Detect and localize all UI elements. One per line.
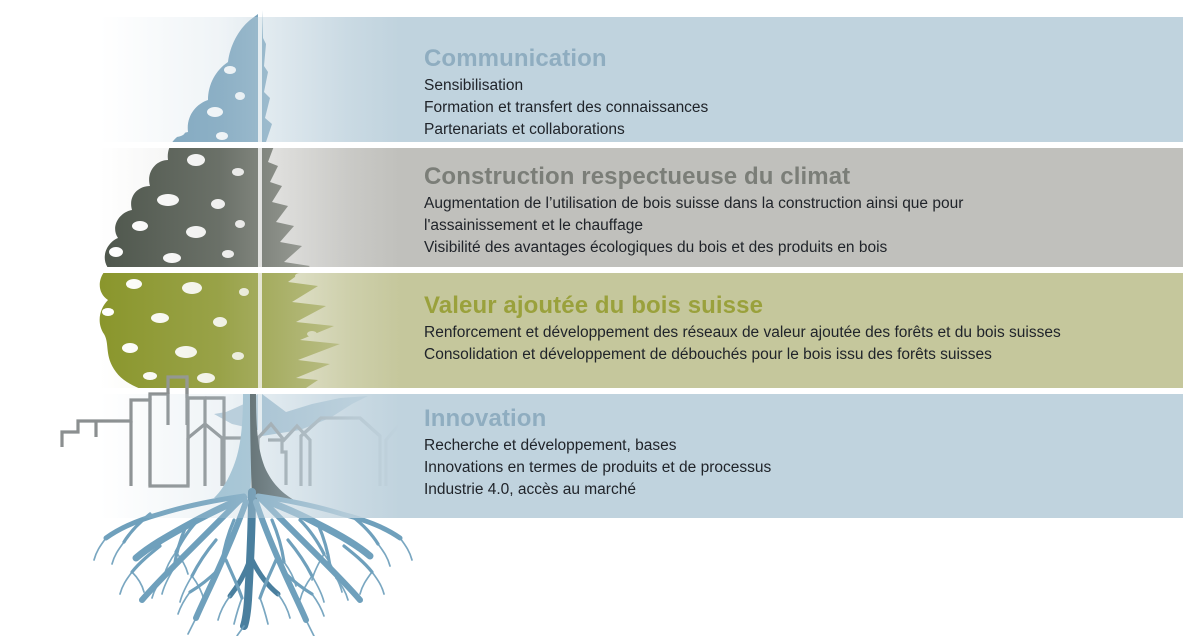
band-communication-text: Communication Sensibilisation Formation …: [424, 46, 1183, 141]
infographic-canvas: Communication Sensibilisation Formation …: [0, 0, 1200, 636]
band-innovation-line-3: Industrie 4.0, accès au marché: [424, 479, 1183, 501]
band-construction-line-2: l'assainissement et le chauffage: [424, 215, 1183, 237]
band-valeur-title: Valeur ajoutée du bois suisse: [424, 293, 1183, 320]
band-communication-title: Communication: [424, 46, 1183, 73]
band-communication-line-1: Sensibilisation: [424, 75, 1183, 97]
band-communication-line-2: Formation et transfert des connaissances: [424, 97, 1183, 119]
band-innovation-line-1: Recherche et développement, bases: [424, 435, 1183, 457]
band-innovation-line-2: Innovations en termes de produits et de …: [424, 457, 1183, 479]
band-construction: Construction respectueuse du climat Augm…: [100, 148, 1183, 267]
band-valeur-text: Valeur ajoutée du bois suisse Renforceme…: [424, 293, 1183, 366]
band-innovation: Innovation Recherche et développement, b…: [100, 394, 1183, 518]
band-innovation-title: Innovation: [424, 406, 1183, 433]
band-communication: Communication Sensibilisation Formation …: [100, 17, 1183, 142]
band-communication-line-3: Partenariats et collaborations: [424, 119, 1183, 141]
band-valeur-ajoutee: Valeur ajoutée du bois suisse Renforceme…: [100, 273, 1183, 388]
band-construction-title: Construction respectueuse du climat: [424, 164, 1183, 191]
band-valeur-line-1: Renforcement et développement des réseau…: [424, 322, 1183, 344]
band-construction-line-3: Visibilité des avantages écologiques du …: [424, 237, 1183, 259]
band-valeur-line-2: Consolidation et développement de débouc…: [424, 344, 1183, 366]
band-construction-text: Construction respectueuse du climat Augm…: [424, 164, 1183, 259]
band-construction-line-1: Augmentation de l’utilisation de bois su…: [424, 193, 1183, 215]
band-innovation-text: Innovation Recherche et développement, b…: [424, 406, 1183, 501]
